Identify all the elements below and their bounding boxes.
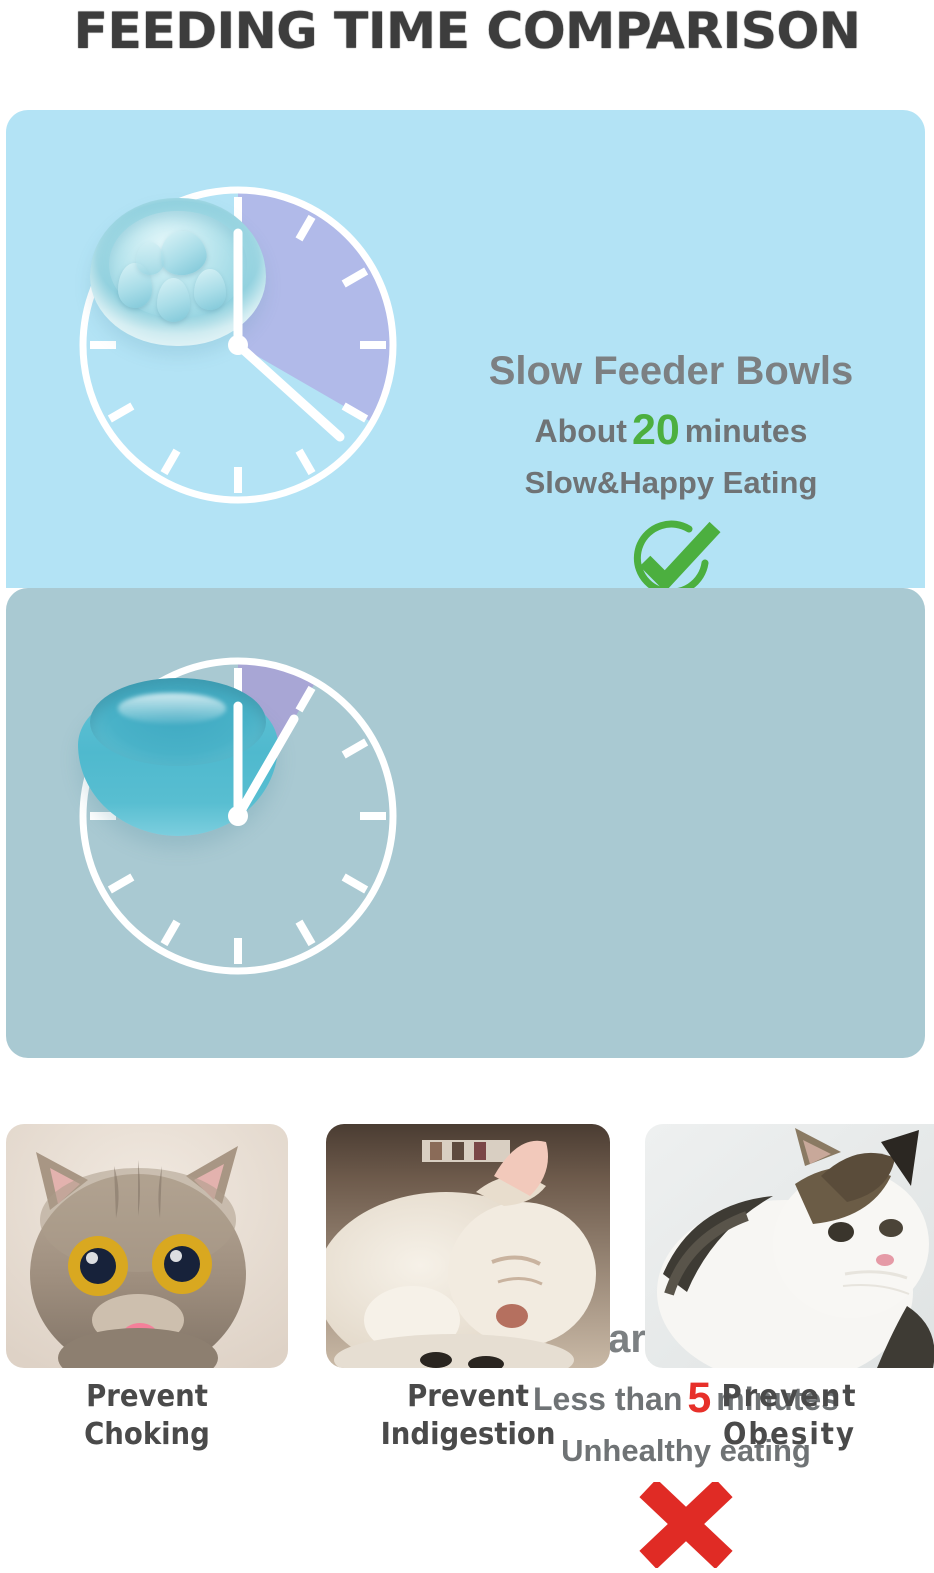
panel-ordinary-bowl: Ordinary Pet Bowls Less than5minutes Unh… (6, 588, 925, 1058)
page-title: FEEDING TIME COMPARISON (0, 0, 934, 62)
time-suffix: minutes (685, 413, 808, 449)
caption-line-2: Obesity (642, 1416, 934, 1454)
hour-hand (238, 719, 294, 816)
benefit-photo-indigestion (326, 1124, 610, 1368)
caption-prevent-choking: Prevent Choking (3, 1378, 291, 1455)
headline-slow-feeder: Slow Feeder Bowls (431, 348, 911, 394)
verdict-ordinary (446, 1481, 926, 1573)
caption-line-1: Prevent (323, 1378, 613, 1416)
clock-center-cap (228, 335, 248, 355)
x-mark-icon (634, 1482, 738, 1573)
caption-line-2: Choking (3, 1416, 291, 1454)
clock-hands-slow (68, 175, 408, 515)
time-value: 20 (627, 406, 685, 454)
benefit-photo-obesity (645, 1124, 934, 1368)
caption-line-2: Indigestion (323, 1416, 613, 1454)
description-slow-feeder: Slow&Happy Eating (431, 465, 911, 501)
clock-center-cap (228, 806, 248, 826)
benefit-photo-choking (6, 1124, 288, 1368)
clock-hands-ordinary (68, 646, 408, 986)
panel-slow-feeder: Slow Feeder Bowls About20minutes Slow&Ha… (6, 110, 925, 588)
time-prefix: About (535, 413, 627, 449)
caption-prevent-obesity: Prevent Obesity (642, 1378, 934, 1455)
caption-line-1: Prevent (642, 1378, 934, 1416)
caption-line-1: Prevent (3, 1378, 291, 1416)
hour-hand (238, 345, 340, 437)
text-block-slow-feeder: Slow Feeder Bowls About20minutes Slow&Ha… (431, 348, 911, 605)
caption-prevent-indigestion: Prevent Indigestion (323, 1378, 613, 1455)
time-line-slow-feeder: About20minutes (431, 406, 911, 455)
